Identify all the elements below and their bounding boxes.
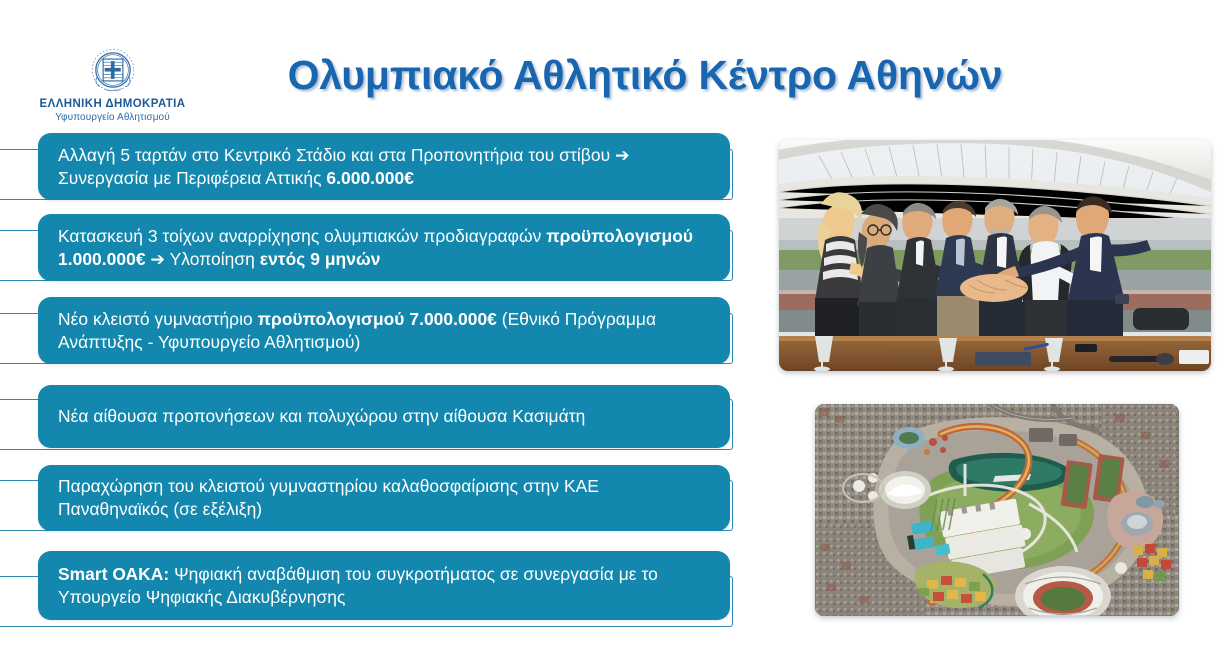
oaka-aerial-masterplan-illustration bbox=[815, 404, 1179, 616]
bullet-card-3[interactable]: Νέο κλειστό γυμναστήριο προϋπολογισμού 7… bbox=[38, 297, 730, 364]
bullet-list: Αλλαγή 5 ταρτάν στο Κεντρικό Στάδιο και … bbox=[0, 0, 760, 648]
bullet-text-6: Smart ΟΑΚΑ: Ψηφιακή αναβάθμιση του συγκρ… bbox=[58, 563, 712, 609]
bullet-text-1: Αλλαγή 5 ταρτάν στο Κεντρικό Στάδιο και … bbox=[58, 144, 712, 190]
bullet-card-1[interactable]: Αλλαγή 5 ταρτάν στο Κεντρικό Στάδιο και … bbox=[38, 133, 730, 200]
bullet-card-4[interactable]: Νέα αίθουσα προπονήσεων και πολυχώρου στ… bbox=[38, 385, 730, 448]
handshake-group-photo bbox=[779, 140, 1211, 371]
bullet-card-2[interactable]: Κατασκευή 3 τοίχων αναρρίχησης ολυμπιακώ… bbox=[38, 214, 730, 281]
bullet-card-5[interactable]: Παραχώρηση του κλειστού γυμναστηρίου καλ… bbox=[38, 465, 730, 531]
bullet-text-3: Νέο κλειστό γυμναστήριο προϋπολογισμού 7… bbox=[58, 308, 712, 354]
bullet-text-2: Κατασκευή 3 τοίχων αναρρίχησης ολυμπιακώ… bbox=[58, 225, 712, 271]
joined-hands bbox=[960, 274, 1028, 302]
bullet-text-5: Παραχώρηση του κλειστού γυμναστηρίου καλ… bbox=[58, 475, 712, 521]
oaka-aerial-masterplan-photo bbox=[815, 404, 1179, 616]
bullet-card-6[interactable]: Smart ΟΑΚΑ: Ψηφιακή αναβάθμιση του συγκρ… bbox=[38, 551, 730, 620]
handshake-group-photo-illustration bbox=[779, 140, 1211, 371]
bullet-text-4: Νέα αίθουσα προπονήσεων και πολυχώρου στ… bbox=[58, 405, 585, 428]
slide-canvas: ΕΛΛΗΝΙΚΗ ΔΗΜΟΚΡΑΤΙΑ Υφυπουργείο Αθλητισμ… bbox=[0, 0, 1230, 648]
